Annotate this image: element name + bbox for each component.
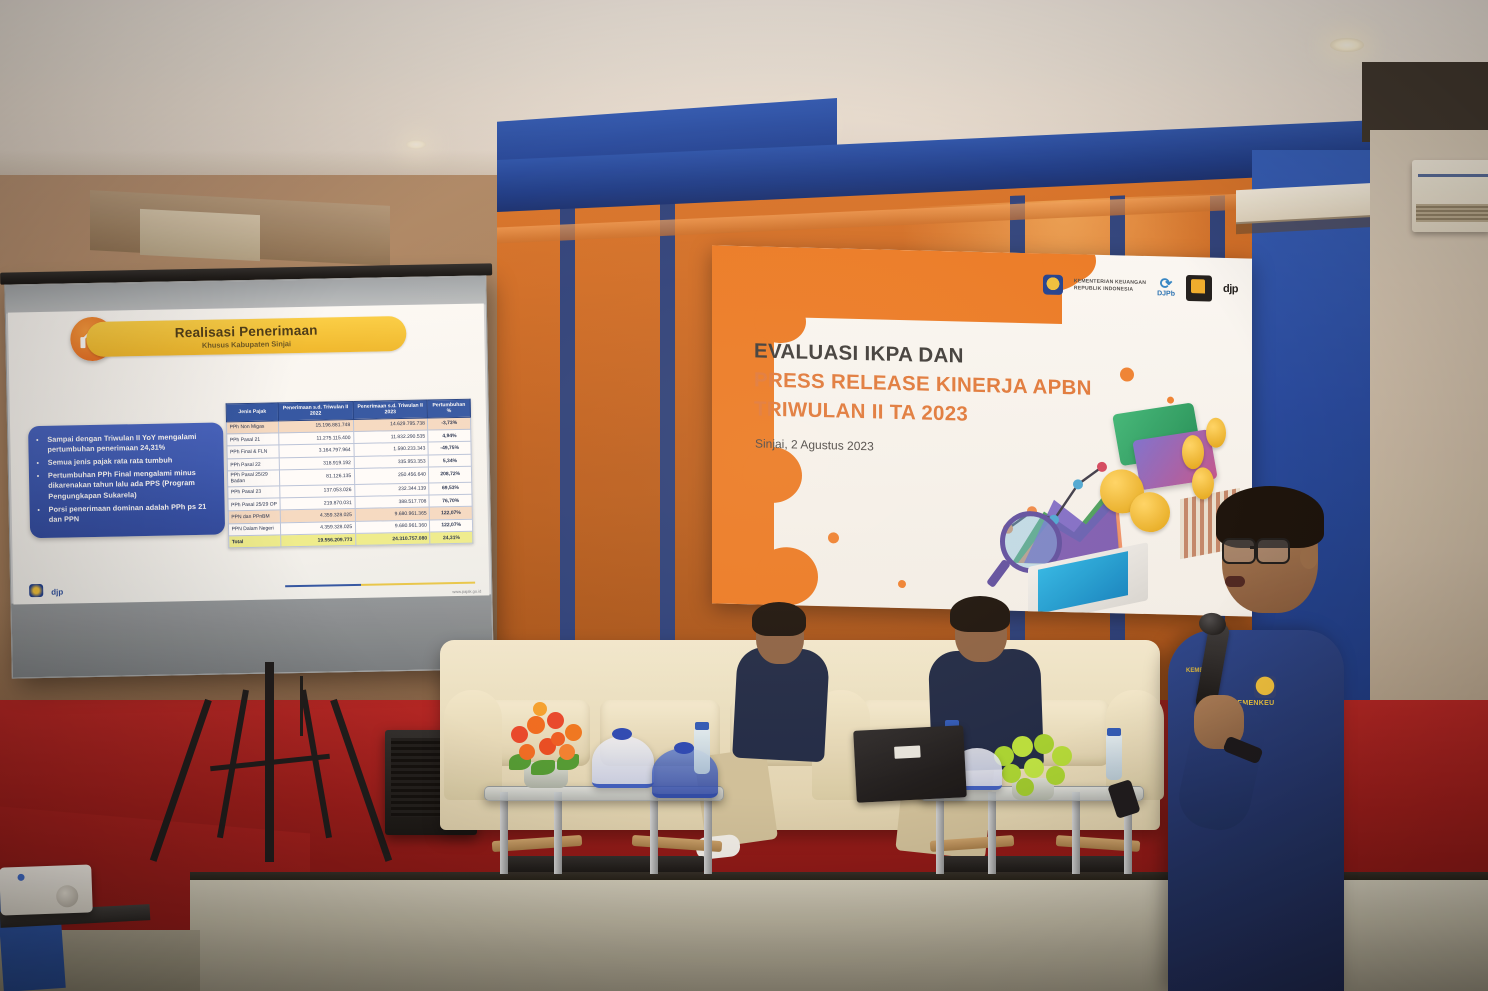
- ribbon-bow: [612, 728, 632, 740]
- cell-growth: 69,53%: [429, 482, 472, 495]
- ribbon-bow: [674, 742, 694, 754]
- list-item: Semua jenis pajak rata rata tumbuh: [48, 455, 215, 469]
- list-item: Porsi penerimaan dominan adalah PPh ps 2…: [49, 501, 216, 525]
- cell-tax-type: PPh Pasal 22: [227, 458, 279, 471]
- cell-tax-type: PPh Pasal 23: [228, 485, 280, 498]
- cell-growth: 4,94%: [428, 429, 471, 442]
- footer-rule: [285, 582, 475, 588]
- banner-title-line-2: PRESS RELEASE KINERJA APBN: [754, 368, 1092, 400]
- cable: [300, 676, 303, 736]
- djpb-mark-icon: ⟳: [1157, 278, 1175, 290]
- banner-title-line-1: EVALUASI IKPA DAN: [754, 339, 964, 368]
- sofa-armrest: [444, 690, 502, 800]
- kemenkeu-shirt-logo: [1254, 676, 1276, 698]
- footer-url: www.pajak.go.id: [452, 589, 481, 595]
- column-header-2023: Penerimaan s.d. Triwulan II 2023: [353, 400, 428, 419]
- djpb-logo: ⟳ DJPb: [1157, 278, 1175, 297]
- presenter-mouth: [1225, 576, 1245, 587]
- decor-dot: [1167, 397, 1174, 404]
- cell-tax-type: PPh Final & FLN: [227, 445, 279, 458]
- decor-dot: [828, 532, 839, 543]
- green-flower-arrangement: [990, 722, 1082, 792]
- table-leg: [936, 792, 944, 874]
- cell-tax-type: PPh Non Migas: [226, 421, 278, 434]
- cell-tax-type: PPh Pasal 21: [227, 433, 279, 446]
- seated-person-left-hair: [752, 602, 806, 636]
- eyeglasses-right-lens: [1256, 538, 1290, 564]
- cell-tax-type: Total: [229, 535, 281, 548]
- cell-tax-type: PPN dan PPnBM: [228, 510, 280, 523]
- air-conditioner: [1412, 160, 1488, 232]
- banner-blob: [742, 446, 802, 503]
- kemenkeu-logo-icon: [29, 584, 43, 597]
- banner-date-place: Sinjai, 2 Agustus 2023: [755, 436, 874, 453]
- coin-icon: [1182, 435, 1204, 470]
- kemenkeu-crest-icon: [1043, 274, 1063, 294]
- bottle-cap: [1107, 728, 1121, 736]
- ac-accent-line: [1418, 174, 1488, 177]
- cell-tax-type: PPh Pasal 25/29 Badan: [227, 470, 279, 486]
- cell-growth: 208,72%: [429, 466, 472, 482]
- cell-growth: -49,75%: [428, 442, 471, 455]
- column-header-2022: Penerimaan s.d. Triwulan II 2022: [278, 401, 353, 420]
- ac-vent-grill: [1416, 204, 1488, 222]
- djp-logo: djp: [51, 588, 63, 597]
- banner-blob: [754, 298, 806, 343]
- column-header-jenis-pajak: Jenis Pajak: [226, 403, 278, 422]
- table-leg: [704, 792, 712, 874]
- table-leg: [554, 792, 562, 874]
- eyeglasses-left-lens: [1222, 538, 1256, 564]
- cell-growth: -3,73%: [428, 417, 471, 430]
- bottle-cap: [695, 722, 709, 730]
- list-item: Pertumbuhan PPh Final mengalami minus di…: [48, 468, 216, 502]
- tax-realisation-table: Jenis Pajak Penerimaan s.d. Triwulan II …: [226, 399, 474, 549]
- cell-2022: 81.126.135: [279, 469, 354, 486]
- coffee-table-lower-shelf: [936, 856, 1128, 872]
- decor-dot: [898, 580, 906, 588]
- table-leg: [650, 792, 658, 874]
- laptop-sticker: [894, 745, 921, 758]
- table-leg: [1072, 792, 1080, 874]
- presenter-ear: [1300, 545, 1318, 569]
- coin-icon: [1192, 467, 1214, 500]
- cell-growth: 76,70%: [429, 494, 472, 507]
- event-backdrop-banner: KEMENTERIAN KEUANGAN REPUBLIK INDONESIA …: [712, 245, 1252, 616]
- cell-2023: 24.310.757.080: [355, 532, 430, 546]
- banner-logo-row: KEMENTERIAN KEUANGAN REPUBLIK INDONESIA …: [1043, 271, 1238, 302]
- table-body: PPh Non Migas15.196.881.74814.629.795.73…: [226, 417, 472, 548]
- wall-mounted-box: [140, 209, 260, 261]
- presentation-slide: Realisasi Penerimaan Khusus Kabupaten Si…: [8, 303, 490, 604]
- djp-mark-icon: [1186, 275, 1212, 302]
- cell-growth: 122,07%: [430, 519, 473, 532]
- ceiling-downlight: [1330, 38, 1364, 52]
- eyeglasses-bridge: [1250, 546, 1258, 549]
- laptop[interactable]: [853, 725, 967, 803]
- magnifier-handle: [986, 559, 1011, 588]
- projector: [0, 864, 93, 915]
- cell-growth: 24,31%: [430, 531, 473, 544]
- coin-icon: [1130, 492, 1170, 533]
- coffee-table-lower-shelf: [500, 856, 706, 872]
- projector-lens: [56, 885, 79, 908]
- cell-growth: 5,34%: [429, 454, 472, 467]
- table-leg: [500, 792, 508, 874]
- banner-title-line-3: TRIWULAN II TA 2023: [754, 397, 968, 426]
- ministry-label: KEMENTERIAN KEUANGAN REPUBLIK INDONESIA: [1074, 278, 1146, 294]
- table-leg: [988, 792, 996, 874]
- screen-dead-area-bottom: [11, 594, 492, 677]
- slide-bullet-box: Sampai dengan Triwulan II YoY mengalami …: [28, 422, 225, 538]
- water-bottle: [694, 728, 710, 774]
- list-item: Sampai dengan Triwulan II YoY mengalami …: [47, 432, 214, 456]
- cell-2023: 250.456.640: [354, 467, 429, 484]
- column-header-growth: Pertumbuhan %: [427, 399, 470, 418]
- cell-2022: 19.556.209.773: [281, 534, 356, 548]
- decor-dot: [1120, 367, 1134, 381]
- cell-tax-type: PPh Pasal 25/29 OP: [228, 498, 280, 511]
- water-bottle: [1106, 734, 1122, 780]
- food-cover-white: [592, 736, 654, 788]
- slide-title-bar: Realisasi Penerimaan Khusus Kabupaten Si…: [86, 316, 407, 357]
- djp-label: djp: [1223, 283, 1238, 295]
- seated-person-right-hair: [950, 596, 1010, 632]
- cell-tax-type: PPN Dalam Negeri: [228, 523, 280, 536]
- ceiling-downlight: [406, 140, 426, 149]
- slide-bullet-list: Sampai dengan Triwulan II YoY mengalami …: [36, 432, 216, 526]
- screen-canvas: Realisasi Penerimaan Khusus Kabupaten Si…: [4, 275, 493, 678]
- cell-growth: 122,07%: [430, 507, 473, 520]
- projector-indicator-led: [17, 874, 24, 881]
- coin-icon: [1206, 417, 1226, 447]
- banner-blob: [756, 546, 818, 606]
- djpb-label: DJPb: [1157, 290, 1175, 297]
- red-flower-arrangement: [505, 700, 591, 774]
- photo-scene: Realisasi Penerimaan Khusus Kabupaten Si…: [0, 0, 1488, 991]
- projection-screen: Realisasi Penerimaan Khusus Kabupaten Si…: [4, 272, 491, 676]
